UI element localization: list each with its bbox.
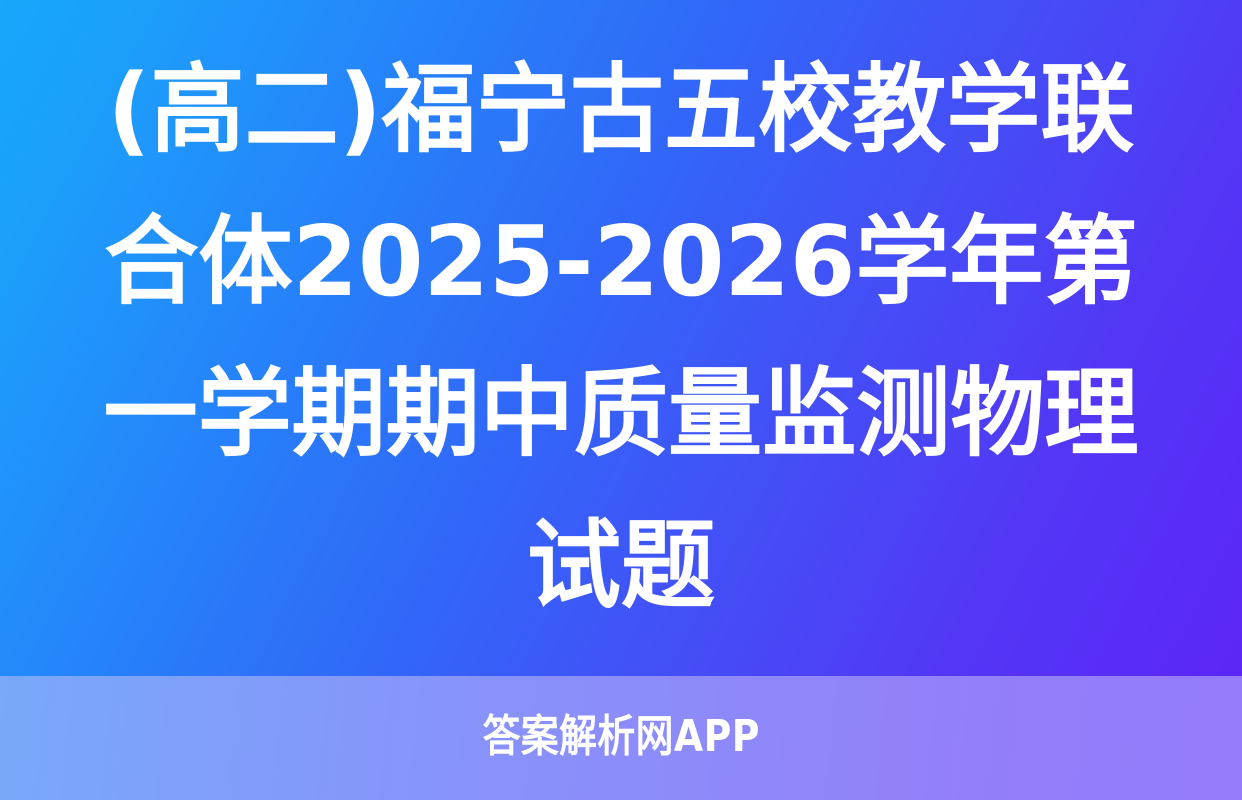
brand-label: 答案解析网APP (482, 715, 759, 761)
title-line-4: 试题 (79, 490, 1163, 642)
title-line-2: 合体2025-2026学年第 (79, 186, 1163, 338)
footer-brand-band: 答案解析网APP (0, 676, 1242, 800)
title-line-1: (高二)福宁古五校教学联 (79, 34, 1163, 186)
hero-banner: (高二)福宁古五校教学联 合体2025-2026学年第 一学期期中质量监测物理 … (0, 0, 1242, 676)
page-title: (高二)福宁古五校教学联 合体2025-2026学年第 一学期期中质量监测物理 … (62, 34, 1180, 642)
title-line-3: 一学期期中质量监测物理 (79, 338, 1163, 490)
poster-container: (高二)福宁古五校教学联 合体2025-2026学年第 一学期期中质量监测物理 … (0, 0, 1242, 800)
